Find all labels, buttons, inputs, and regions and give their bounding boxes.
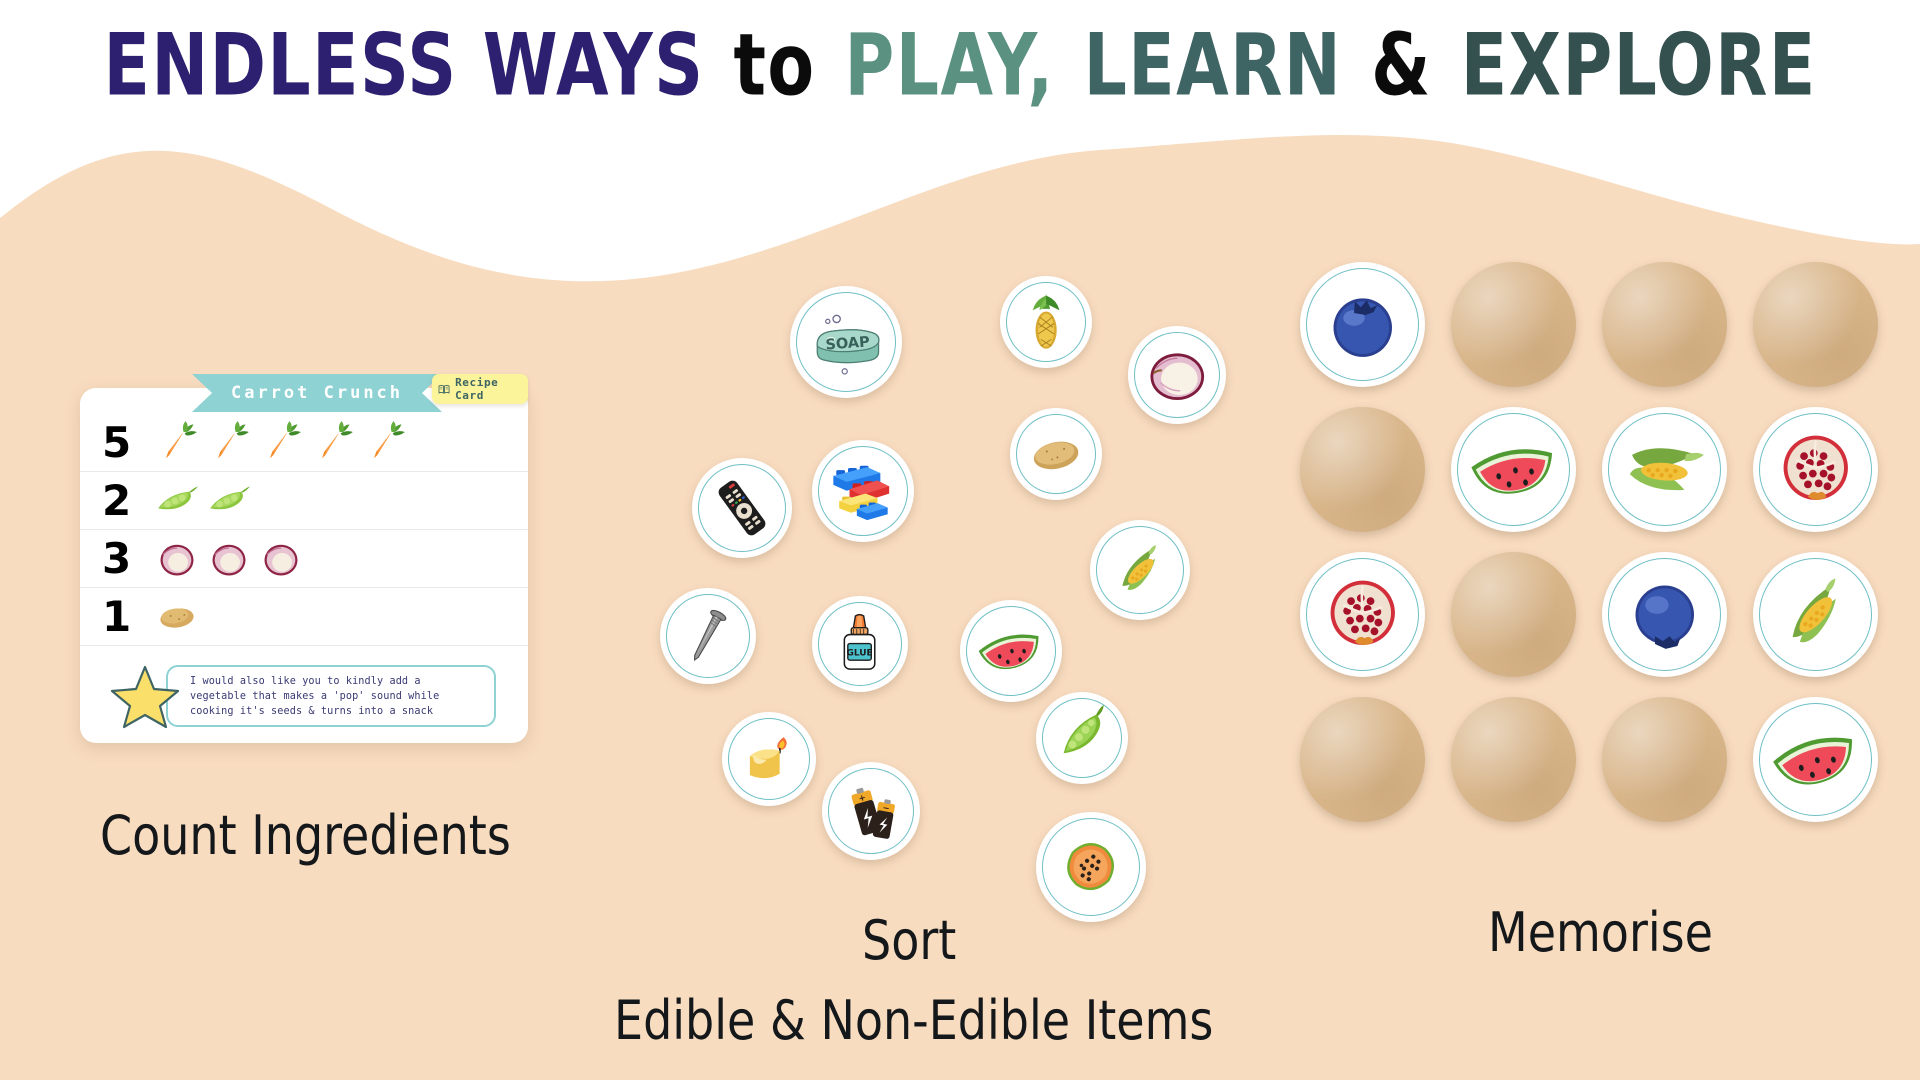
- memory-card[interactable]: [1451, 407, 1576, 532]
- table-row: 5: [80, 414, 528, 472]
- glue-bottle-icon: GLUE: [825, 609, 894, 678]
- sort-item-soap-bar[interactable]: SOAP: [790, 286, 902, 398]
- sort-item-watermelon-slice[interactable]: [960, 600, 1062, 702]
- recipe-note: I would also like you to kindly add a ve…: [108, 663, 498, 729]
- ingredient-icons-pea: [154, 479, 252, 523]
- note-line: vegetable that makes a 'pop' sound while: [190, 689, 486, 704]
- ingredient-rows: 5 2 3: [80, 414, 528, 646]
- nail-icon: [673, 601, 742, 670]
- section-label-count: Count Ingredients: [100, 803, 511, 867]
- ingredient-icons-potato: [154, 595, 200, 639]
- table-row: 1: [80, 588, 528, 646]
- sort-item-batteries[interactable]: + −: [822, 762, 920, 860]
- carrot-icon: [206, 421, 252, 465]
- ingredient-icons-onion: [154, 537, 304, 581]
- pomegranate-icon: [1767, 421, 1865, 519]
- memory-card[interactable]: [1300, 262, 1425, 387]
- sort-item-potato[interactable]: [1010, 408, 1102, 500]
- candle-icon: [735, 725, 803, 793]
- svg-text:SOAP: SOAP: [825, 334, 871, 353]
- sort-item-lego-bricks[interactable]: [812, 440, 914, 542]
- red-onion-icon: [154, 537, 200, 581]
- sort-item-glue-bottle[interactable]: GLUE: [812, 596, 908, 692]
- sort-item-papaya-half[interactable]: [1036, 812, 1146, 922]
- lego-bricks-icon: [826, 454, 899, 527]
- memory-card[interactable]: [1753, 262, 1878, 387]
- potato-icon: [1023, 421, 1089, 487]
- memory-card[interactable]: [1602, 262, 1727, 387]
- ingredient-icons-carrot: [154, 421, 408, 465]
- batteries-icon: + −: [836, 776, 907, 847]
- pineapple-icon: [1013, 289, 1079, 355]
- ingredient-count: 5: [102, 418, 154, 467]
- table-row: 3: [80, 530, 528, 588]
- page-title: ENDLESS WAYS to PLAY, LEARN & EXPLORE: [101, 15, 1818, 115]
- memory-card[interactable]: [1300, 697, 1425, 822]
- carrot-icon: [154, 421, 200, 465]
- red-onion-icon: [258, 537, 304, 581]
- sort-item-pea-pod[interactable]: [1036, 692, 1128, 784]
- title-part-explore: EXPLORE: [1459, 15, 1819, 115]
- title-part-to: to: [731, 15, 817, 115]
- memory-card[interactable]: [1753, 697, 1878, 822]
- pomegranate-icon: [1314, 566, 1412, 664]
- carrot-icon: [258, 421, 304, 465]
- section-label-sort: Sort: [862, 908, 956, 972]
- ingredient-count: 3: [102, 534, 154, 583]
- note-bubble: I would also like you to kindly add a ve…: [166, 665, 496, 727]
- sort-item-candle[interactable]: [722, 712, 816, 806]
- soap-bar-icon: SOAP: [806, 302, 887, 383]
- section-label-sort-subtitle: Edible & Non-Edible Items: [614, 988, 1213, 1052]
- memory-card[interactable]: [1451, 697, 1576, 822]
- tv-remote-icon: [706, 472, 778, 544]
- memory-card[interactable]: [1602, 697, 1727, 822]
- red-onion-half-icon: [1142, 340, 1213, 411]
- sort-item-pineapple[interactable]: [1000, 276, 1092, 368]
- sort-item-red-onion-half[interactable]: [1128, 326, 1226, 424]
- note-text: I would also like you to kindly add a ve…: [190, 674, 486, 719]
- title-part-play: PLAY,: [842, 15, 1056, 115]
- section-label-memorise: Memorise: [1488, 900, 1713, 964]
- svg-text:GLUE: GLUE: [847, 649, 873, 659]
- red-onion-icon: [206, 537, 252, 581]
- pea-pod-icon: [206, 479, 252, 523]
- open-book-icon: [438, 382, 450, 397]
- recipe-card-badge-label: Recipe Card: [455, 376, 519, 402]
- recipe-card-badge[interactable]: Recipe Card: [432, 374, 528, 404]
- memory-card[interactable]: [1602, 552, 1727, 677]
- memory-card[interactable]: [1451, 552, 1576, 677]
- recipe-title: Carrot Crunch: [231, 383, 403, 403]
- watermelon-slice-icon: [1465, 421, 1563, 519]
- sort-item-tv-remote[interactable]: [692, 458, 792, 558]
- memory-card[interactable]: [1602, 407, 1727, 532]
- memory-card[interactable]: [1753, 552, 1878, 677]
- corn-cob-icon: [1104, 534, 1176, 606]
- ingredient-count: 1: [102, 592, 154, 641]
- ingredient-count: 2: [102, 476, 154, 525]
- table-row: 2: [80, 472, 528, 530]
- watermelon-slice-icon: [1767, 711, 1865, 809]
- watermelon-slice-icon: [974, 614, 1047, 687]
- recipe-card[interactable]: Carrot Crunch Recipe Card 5: [80, 388, 528, 743]
- papaya-half-icon: [1051, 827, 1130, 906]
- star-icon: [108, 663, 182, 729]
- carrot-icon: [362, 421, 408, 465]
- pea-pod-icon: [1049, 705, 1115, 771]
- potato-icon: [154, 595, 200, 639]
- title-part-endless-ways: ENDLESS WAYS: [101, 15, 706, 115]
- blueberry-icon: [1616, 566, 1714, 664]
- memory-card[interactable]: [1300, 407, 1425, 532]
- memory-card-grid: [1300, 262, 1880, 832]
- title-part-learn: LEARN: [1082, 15, 1344, 115]
- corn-cob-icon: [1616, 421, 1714, 519]
- sort-item-nail[interactable]: [660, 588, 756, 684]
- memory-card[interactable]: [1753, 407, 1878, 532]
- blueberry-icon: [1314, 276, 1412, 374]
- poster-header: ENDLESS WAYS to PLAY, LEARN & EXPLORE: [0, 0, 1920, 130]
- poster-canvas: ENDLESS WAYS to PLAY, LEARN & EXPLORE Ca…: [0, 0, 1920, 1080]
- memory-card[interactable]: [1451, 262, 1576, 387]
- recipe-title-banner: Carrot Crunch: [192, 374, 442, 412]
- note-line: cooking it's seeds & turns into a snack: [190, 704, 486, 719]
- memory-card[interactable]: [1300, 552, 1425, 677]
- title-part-ampersand: &: [1369, 15, 1434, 115]
- carrot-icon: [310, 421, 356, 465]
- corn-cob-icon: [1767, 566, 1865, 664]
- note-line: I would also like you to kindly add a: [190, 674, 486, 689]
- sort-item-corn-cob[interactable]: [1090, 520, 1190, 620]
- pea-pod-icon: [154, 479, 200, 523]
